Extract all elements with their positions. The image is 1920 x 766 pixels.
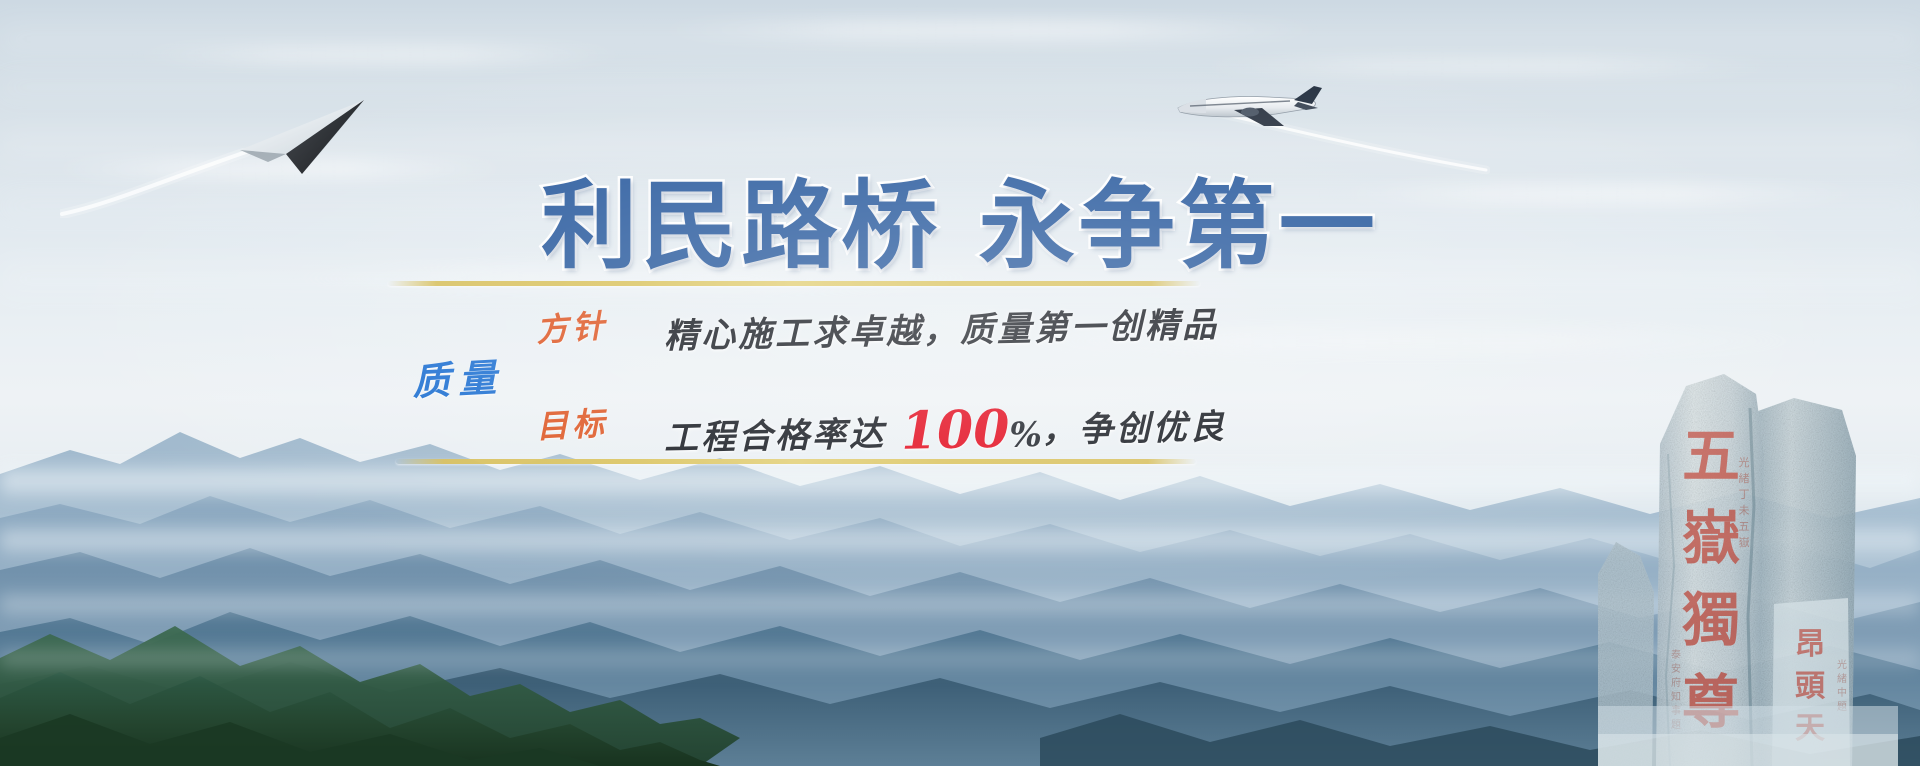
policy-tag: 方针 [534, 301, 609, 352]
target-percent-sign: % [1009, 415, 1042, 456]
quality-label: 质量 [411, 345, 534, 406]
target-slogan: 工程合格率达 100%，争创优良 [663, 394, 1227, 467]
divider-top [388, 281, 1200, 286]
hero-banner: 五 嶽 獨 尊 昂 頭 天 光 緒 丁 未 五 嶽 泰 安 府 知 事 題 光 … [0, 0, 1920, 766]
page-title: 利民路桥 永争第一 [0, 178, 1920, 274]
target-slogan-suffix: ，争创优良 [1041, 407, 1227, 451]
target-slogan-prefix: 工程合格率达 [664, 414, 902, 459]
banner-content: 利民路桥 永争第一 质量 方针 精心施工求卓越，质量第一创精品 目标 工程合格率… [0, 0, 1920, 766]
target-tag: 目标 [535, 398, 609, 448]
target-percent-value: 100 [900, 399, 1010, 462]
divider-bottom [396, 459, 1196, 464]
policy-slogan: 精心施工求卓越，质量第一创精品 [664, 297, 1220, 358]
